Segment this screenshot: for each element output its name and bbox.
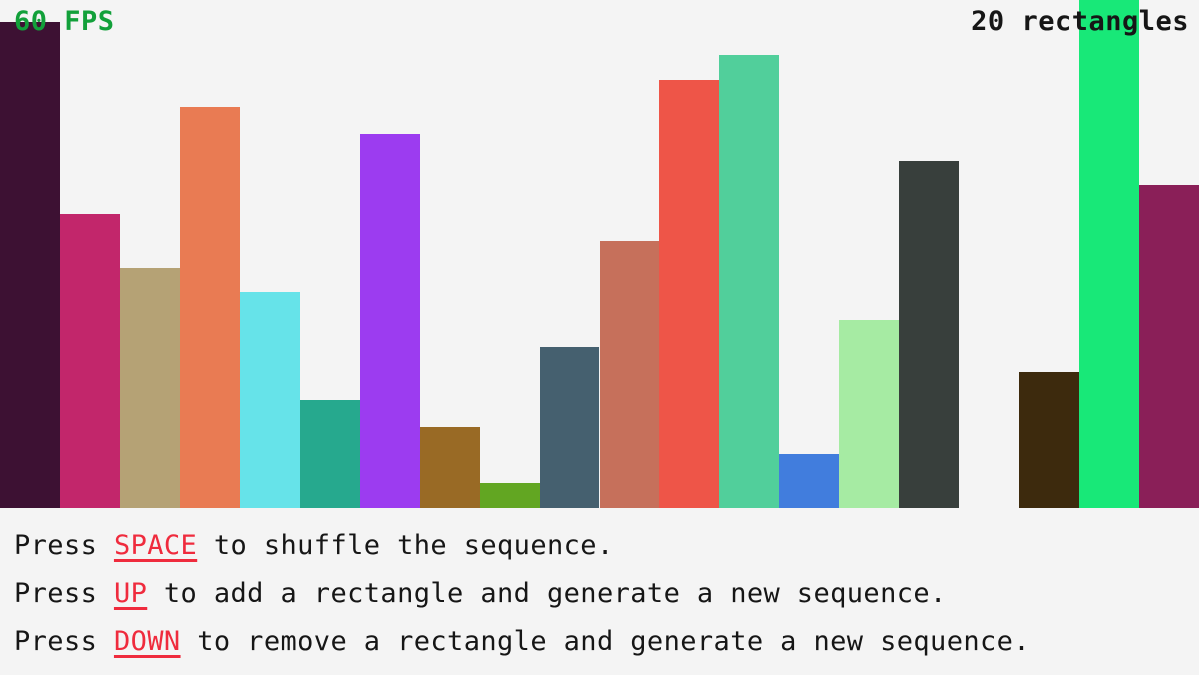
- bar-12-red: [659, 80, 719, 508]
- bar-3-tan: [120, 268, 180, 508]
- bar-20-dark-magenta: [1139, 185, 1199, 508]
- bar-2-magenta: [60, 214, 120, 508]
- key-space[interactable]: SPACE: [114, 530, 197, 561]
- instruction-line-remove: Press DOWN to remove a rectangle and gen…: [14, 618, 1199, 666]
- instruction-prefix: Press: [14, 530, 114, 561]
- bar-10-slate-blue: [540, 347, 600, 508]
- instruction-suffix: to add a rectangle and generate a new se…: [147, 578, 946, 609]
- bar-1-dark-plum: [0, 22, 60, 508]
- bar-16-dark-slate: [899, 161, 959, 508]
- instruction-prefix: Press: [14, 578, 114, 609]
- bar-11-brick: [600, 241, 660, 508]
- instruction-prefix: Press: [14, 626, 114, 657]
- key-up[interactable]: UP: [114, 578, 147, 609]
- key-down[interactable]: DOWN: [114, 626, 181, 657]
- bar-8-brown: [420, 427, 480, 508]
- bar-7-purple: [360, 134, 420, 508]
- bar-13-mint-green: [719, 55, 779, 508]
- instruction-line-add: Press UP to add a rectangle and generate…: [14, 570, 1199, 618]
- bar-18-dark-brown: [1019, 372, 1079, 508]
- bar-5-cyan: [240, 292, 300, 508]
- instruction-suffix: to shuffle the sequence.: [197, 530, 613, 561]
- instructions-panel: Press SPACE to shuffle the sequence. Pre…: [0, 508, 1199, 675]
- app-root: 60 FPS 20 rectangles Press SPACE to shuf…: [0, 0, 1199, 675]
- instruction-line-shuffle: Press SPACE to shuffle the sequence.: [14, 522, 1199, 570]
- bar-14-blue: [779, 454, 839, 508]
- bar-15-light-green: [839, 320, 899, 508]
- bar-19-bright-green: [1079, 0, 1139, 508]
- bar-6-teal: [300, 400, 360, 508]
- instruction-suffix: to remove a rectangle and generate a new…: [181, 626, 1030, 657]
- rectangle-chart[interactable]: [0, 0, 1199, 508]
- bar-9-olive-green: [480, 483, 540, 508]
- bar-4-orange: [180, 107, 240, 508]
